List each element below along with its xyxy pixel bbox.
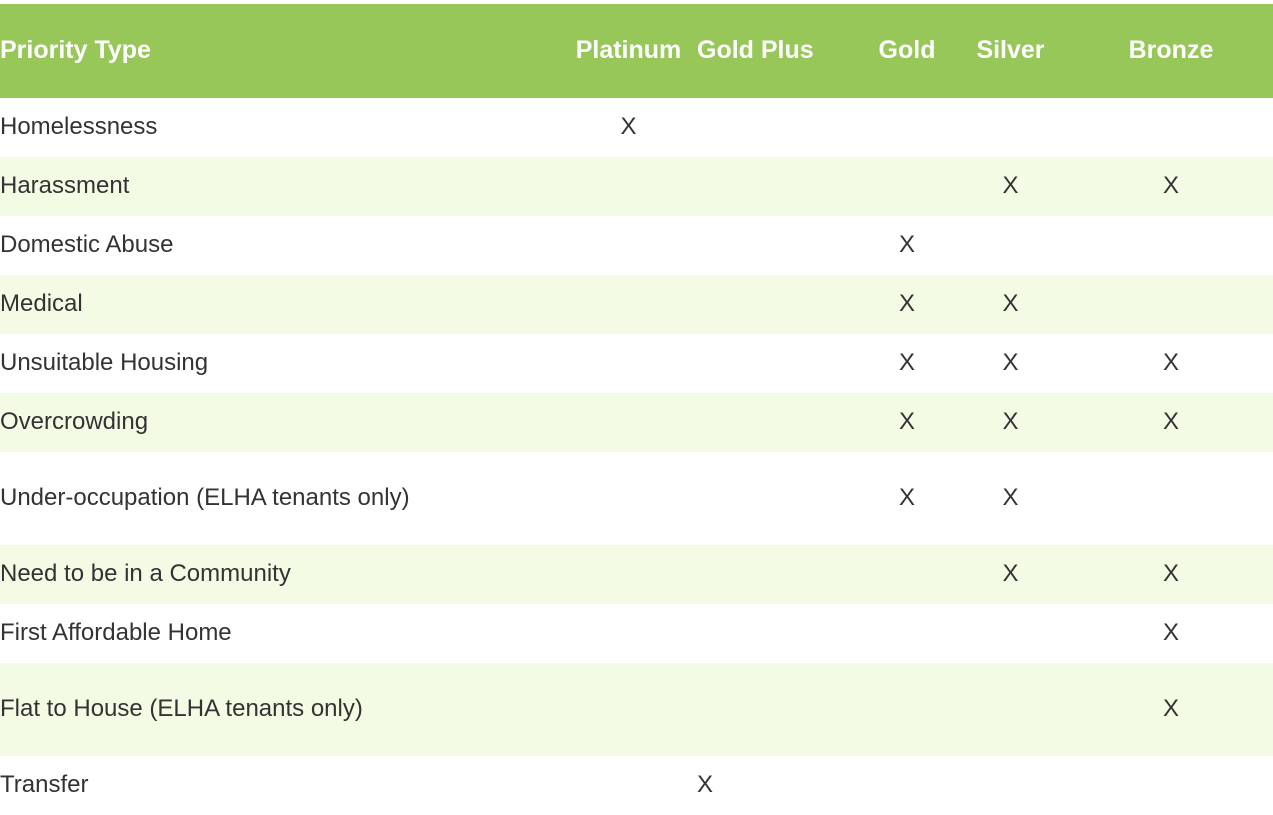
cell-platinum-mark: X xyxy=(560,98,697,157)
cell-platinum-mark xyxy=(560,452,697,545)
cell-gold-plus-mark xyxy=(697,216,862,275)
cell-priority-type: Harassment xyxy=(0,157,560,216)
cell-platinum-mark xyxy=(560,275,697,334)
table-row: HarassmentXX xyxy=(0,157,1273,216)
cell-bronze-mark xyxy=(1069,216,1273,275)
cell-silver-mark: X xyxy=(952,545,1069,604)
cell-silver-mark xyxy=(952,663,1069,756)
table-row: Domestic AbuseX xyxy=(0,216,1273,275)
cell-gold-mark: X xyxy=(862,275,952,334)
cell-gold-plus-mark xyxy=(697,663,862,756)
cell-gold-mark: X xyxy=(862,393,952,452)
cell-bronze-mark: X xyxy=(1069,663,1273,756)
cell-priority-type: Medical xyxy=(0,275,560,334)
cell-priority-type: Homelessness xyxy=(0,98,560,157)
cell-gold-plus-mark xyxy=(697,98,862,157)
column-header-platinum: Platinum xyxy=(560,4,697,98)
cell-silver-mark xyxy=(952,604,1069,663)
cell-gold-plus-mark xyxy=(697,604,862,663)
table-header: Priority Type Platinum Gold Plus Gold Si… xyxy=(0,4,1273,98)
table-row: First Affordable HomeX xyxy=(0,604,1273,663)
table-body: HomelessnessXHarassmentXXDomestic AbuseX… xyxy=(0,98,1273,815)
cell-gold-mark xyxy=(862,756,952,815)
cell-bronze-mark: X xyxy=(1069,393,1273,452)
cell-bronze-mark xyxy=(1069,98,1273,157)
column-header-priority-type: Priority Type xyxy=(0,4,560,98)
cell-priority-type: Overcrowding xyxy=(0,393,560,452)
cell-gold-plus-mark xyxy=(697,452,862,545)
cell-platinum-mark xyxy=(560,216,697,275)
cell-silver-mark xyxy=(952,98,1069,157)
cell-platinum-mark xyxy=(560,756,697,815)
cell-bronze-mark xyxy=(1069,275,1273,334)
table-row: Need to be in a CommunityXX xyxy=(0,545,1273,604)
table-row: MedicalXX xyxy=(0,275,1273,334)
cell-silver-mark xyxy=(952,216,1069,275)
cell-gold-plus-mark xyxy=(697,545,862,604)
cell-platinum-mark xyxy=(560,393,697,452)
cell-platinum-mark xyxy=(560,157,697,216)
column-header-silver: Silver xyxy=(952,4,1069,98)
cell-gold-mark: X xyxy=(862,334,952,393)
column-header-gold: Gold xyxy=(862,4,952,98)
cell-silver-mark: X xyxy=(952,393,1069,452)
cell-priority-type: Need to be in a Community xyxy=(0,545,560,604)
cell-platinum-mark xyxy=(560,604,697,663)
cell-platinum-mark xyxy=(560,545,697,604)
column-header-gold-plus: Gold Plus xyxy=(697,4,862,98)
table-row: Under-occupation (ELHA tenants only)XX xyxy=(0,452,1273,545)
cell-priority-type: Flat to House (ELHA tenants only) xyxy=(0,663,560,756)
cell-priority-type: Transfer xyxy=(0,756,560,815)
cell-gold-plus-mark: X xyxy=(697,756,862,815)
cell-bronze-mark xyxy=(1069,756,1273,815)
cell-bronze-mark: X xyxy=(1069,545,1273,604)
cell-platinum-mark xyxy=(560,334,697,393)
cell-bronze-mark: X xyxy=(1069,157,1273,216)
cell-bronze-mark xyxy=(1069,452,1273,545)
cell-silver-mark xyxy=(952,756,1069,815)
cell-gold-mark xyxy=(862,98,952,157)
cell-bronze-mark: X xyxy=(1069,604,1273,663)
cell-gold-mark: X xyxy=(862,216,952,275)
table-row: Unsuitable HousingXXX xyxy=(0,334,1273,393)
cell-gold-plus-mark xyxy=(697,393,862,452)
priority-banding-table: Priority Type Platinum Gold Plus Gold Si… xyxy=(0,4,1273,815)
cell-priority-type: Under-occupation (ELHA tenants only) xyxy=(0,452,560,545)
cell-silver-mark: X xyxy=(952,275,1069,334)
table-row: HomelessnessX xyxy=(0,98,1273,157)
column-header-bronze: Bronze xyxy=(1069,4,1273,98)
cell-gold-plus-mark xyxy=(697,334,862,393)
table-row: TransferX xyxy=(0,756,1273,815)
cell-silver-mark: X xyxy=(952,334,1069,393)
cell-bronze-mark: X xyxy=(1069,334,1273,393)
table-row: OvercrowdingXXX xyxy=(0,393,1273,452)
cell-platinum-mark xyxy=(560,663,697,756)
cell-gold-mark xyxy=(862,604,952,663)
cell-priority-type: Unsuitable Housing xyxy=(0,334,560,393)
table-header-row: Priority Type Platinum Gold Plus Gold Si… xyxy=(0,4,1273,98)
cell-silver-mark: X xyxy=(952,157,1069,216)
cell-gold-mark xyxy=(862,157,952,216)
cell-gold-plus-mark xyxy=(697,157,862,216)
cell-gold-mark xyxy=(862,663,952,756)
cell-gold-mark: X xyxy=(862,452,952,545)
cell-gold-plus-mark xyxy=(697,275,862,334)
cell-priority-type: Domestic Abuse xyxy=(0,216,560,275)
cell-priority-type: First Affordable Home xyxy=(0,604,560,663)
table-row: Flat to House (ELHA tenants only)X xyxy=(0,663,1273,756)
cell-silver-mark: X xyxy=(952,452,1069,545)
cell-gold-mark xyxy=(862,545,952,604)
